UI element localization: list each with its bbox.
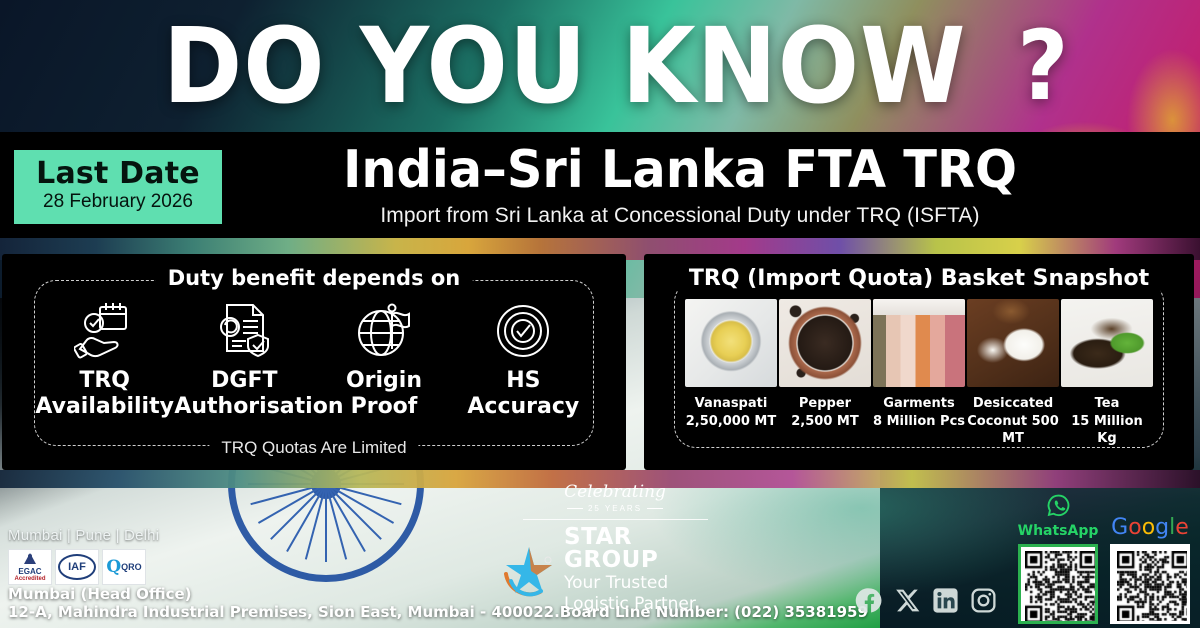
whatsapp-label: WhatsApp [1018, 523, 1099, 539]
certification-badges: EGAC Accredited IAF Q QRO [8, 549, 146, 585]
pillar-label-line1: DGFT [174, 369, 314, 393]
google-review-qr-code[interactable] [1110, 544, 1190, 624]
pillar-label-line1: TRQ [35, 369, 174, 393]
whatsapp-qr-code[interactable] [1018, 544, 1098, 624]
basket-item-quota: 2,50,000 MT [685, 413, 777, 431]
brand-name: STAR GROUP [564, 526, 730, 572]
garments-on-hangers-photo [873, 299, 965, 387]
duty-benefit-footer: TRQ Quotas Are Limited [209, 438, 418, 458]
basket-item[interactable]: Vanaspati 2,50,000 MT [685, 299, 777, 448]
brand-block: Celebrating 25 YEARS STAR GROUP Your Tru… [500, 484, 730, 613]
pillar-label-line2: Availability [35, 395, 174, 419]
iaf-badge: IAF [55, 549, 99, 585]
trq-basket-panel: TRQ (Import Quota) Basket Snapshot Vanas… [644, 254, 1194, 470]
poster-canvas: DO YOU KNOW ? Last Date 28 February 2026… [0, 0, 1200, 628]
tea-leaves-photo [1061, 299, 1153, 387]
pillar-dgft-authorisation[interactable]: DGFT Authorisation [174, 295, 314, 419]
page-subtitle: Import from Sri Lanka at Concessional Du… [240, 204, 1120, 228]
title-bar: Last Date 28 February 2026 India–Sri Lan… [0, 132, 1200, 240]
whatsapp-qr-block[interactable]: WhatsApp [1018, 495, 1098, 624]
pillar-trq-availability[interactable]: TRQ Availability [35, 295, 174, 419]
x-twitter-icon[interactable] [893, 586, 922, 615]
basket-item-name: Desiccated [967, 395, 1059, 413]
iaf-label: IAF [68, 561, 86, 573]
basket-item[interactable]: Garments 8 Million Pcs [873, 299, 965, 448]
duty-benefit-header: Duty benefit depends on [156, 266, 473, 290]
address-line: 12-A, Mahindra Industrial Premises, Sion… [8, 603, 868, 621]
brand-tagline-line2: Logistic Partner [564, 595, 730, 614]
egac-sublabel: Accredited [14, 576, 45, 582]
trq-basket-header: TRQ (Import Quota) Basket Snapshot [677, 266, 1161, 291]
basket-item-quota: Coconut 500 MT [967, 413, 1059, 448]
head-office-label: Mumbai (Head Office) [8, 585, 192, 603]
years-label: 25 YEARS [500, 504, 730, 513]
google-logo: Google [1111, 517, 1189, 539]
facebook-icon[interactable] [855, 586, 884, 615]
basket-item-name: Vanaspati [685, 395, 777, 413]
star-swoosh-logo [500, 541, 558, 599]
pillar-origin-proof[interactable]: Origin Proof [314, 295, 453, 419]
desiccated-coconut-photo [967, 299, 1059, 387]
instagram-icon[interactable] [969, 586, 998, 615]
basket-item[interactable]: Pepper 2,500 MT [779, 299, 871, 448]
basket-item-quota: 8 Million Pcs [873, 413, 965, 431]
basket-item-name: Tea [1061, 395, 1153, 413]
basket-item-name: Garments [873, 395, 965, 413]
last-date-value: 28 February 2026 [43, 189, 193, 216]
linkedin-icon[interactable] [931, 586, 960, 615]
duty-benefit-panel: Duty benefit depends on [2, 254, 626, 470]
last-date-badge: Last Date 28 February 2026 [14, 150, 222, 224]
hero-question-mark: ? [1018, 18, 1070, 114]
pillar-label-line2: Proof [314, 395, 453, 419]
cities-line: Mumbai | Pune | Delhi [8, 527, 159, 544]
ghee-vanaspati-photo [685, 299, 777, 387]
duty-benefit-dashed-frame: Duty benefit depends on [34, 280, 594, 446]
page-title: India–Sri Lanka FTA TRQ [262, 142, 1098, 198]
hero-banner: DO YOU KNOW ? [0, 0, 1200, 132]
basket-item-list: Vanaspati 2,50,000 MT Pepper 2,500 MT Ga… [685, 299, 1153, 448]
globe-flag-icon [314, 295, 453, 367]
basket-item[interactable]: Desiccated Coconut 500 MT [967, 299, 1059, 448]
pillar-label-line1: Origin [314, 369, 453, 393]
qro-label: QRO [121, 562, 142, 572]
pillar-hs-accuracy[interactable]: HS Accuracy [454, 295, 593, 419]
brand-divider [523, 519, 708, 520]
target-check-icon [454, 295, 593, 367]
basket-item-quota: 15 Million Kg [1061, 413, 1153, 448]
egac-accredited-badge: EGAC Accredited [8, 549, 52, 585]
pillar-label-line2: Authorisation [174, 395, 314, 419]
pillar-label-line1: HS [454, 369, 593, 393]
google-qr-block[interactable]: Google [1110, 495, 1190, 624]
qro-badge: Q QRO [102, 549, 146, 585]
document-verified-icon [174, 295, 314, 367]
pillar-list: TRQ Availability [35, 295, 593, 419]
brand-tagline-line1: Your Trusted [564, 574, 730, 593]
basket-item-name: Pepper [779, 395, 871, 413]
basket-item[interactable]: Tea 15 Million Kg [1061, 299, 1153, 448]
basket-item-quota: 2,500 MT [779, 413, 871, 431]
qr-code-zone: WhatsApp Google [1018, 495, 1190, 624]
calendar-in-hand-icon [35, 295, 174, 367]
last-date-label: Last Date [36, 158, 200, 190]
trq-basket-dashed-frame: TRQ (Import Quota) Basket Snapshot Vanas… [674, 280, 1164, 448]
egac-label: EGAC [14, 568, 45, 576]
social-links [855, 586, 998, 615]
black-pepper-bowl-photo [779, 299, 871, 387]
hero-headline: DO YOU KNOW [163, 14, 967, 118]
celebrating-label: Celebrating [500, 484, 730, 501]
pillar-label-line2: Accuracy [454, 395, 593, 419]
whatsapp-icon [1046, 493, 1071, 523]
